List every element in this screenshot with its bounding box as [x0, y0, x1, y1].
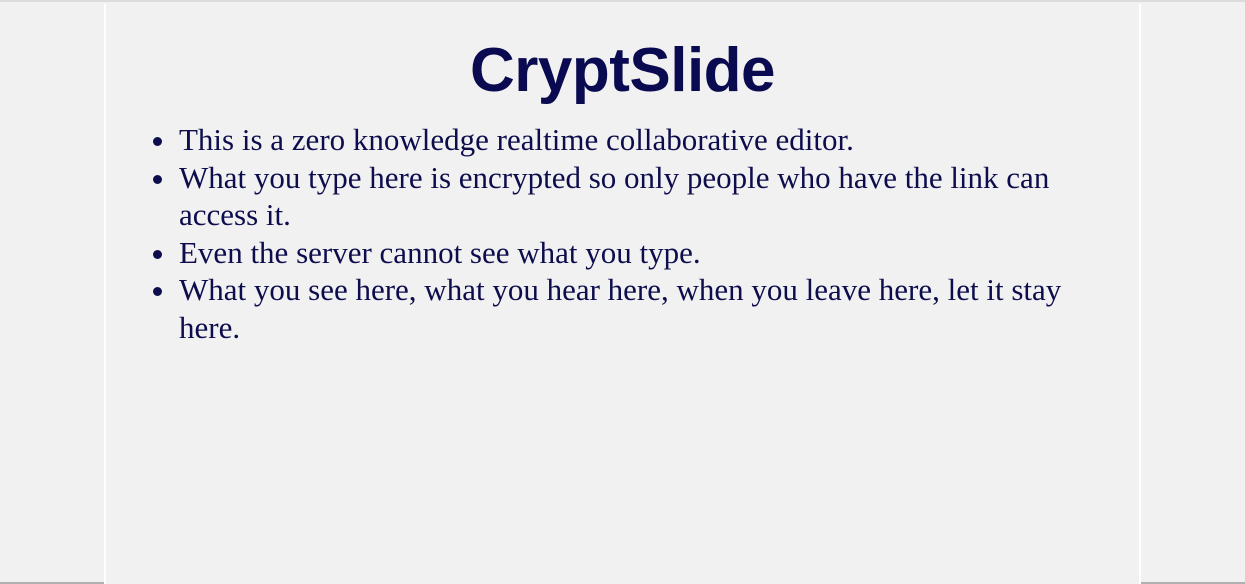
slide-bullet-list: This is a zero knowledge realtime collab… [147, 121, 1097, 347]
slide-left-gutter [0, 4, 104, 580]
list-item[interactable]: What you type here is encrypted so only … [147, 159, 1097, 234]
app-frame: CryptSlide This is a zero knowledge real… [0, 0, 1245, 584]
slide-right-gutter [1141, 4, 1245, 580]
list-item-text: What you type here is encrypted so only … [179, 159, 1097, 234]
bullet-dot-icon [153, 250, 162, 259]
slide-content: CryptSlide This is a zero knowledge real… [106, 4, 1139, 584]
list-item-text: Even the server cannot see what you type… [179, 234, 1097, 272]
slide-canvas[interactable]: CryptSlide This is a zero knowledge real… [104, 4, 1141, 584]
bullet-dot-icon [153, 287, 162, 296]
list-item-text: What you see here, what you hear here, w… [179, 271, 1097, 346]
bullet-dot-icon [153, 175, 162, 184]
page-title: CryptSlide [106, 4, 1139, 102]
list-item[interactable]: Even the server cannot see what you type… [147, 234, 1097, 272]
list-item[interactable]: What you see here, what you hear here, w… [147, 271, 1097, 346]
list-item-text: This is a zero knowledge realtime collab… [179, 121, 1097, 159]
list-item[interactable]: This is a zero knowledge realtime collab… [147, 121, 1097, 159]
bullet-dot-icon [153, 137, 162, 146]
